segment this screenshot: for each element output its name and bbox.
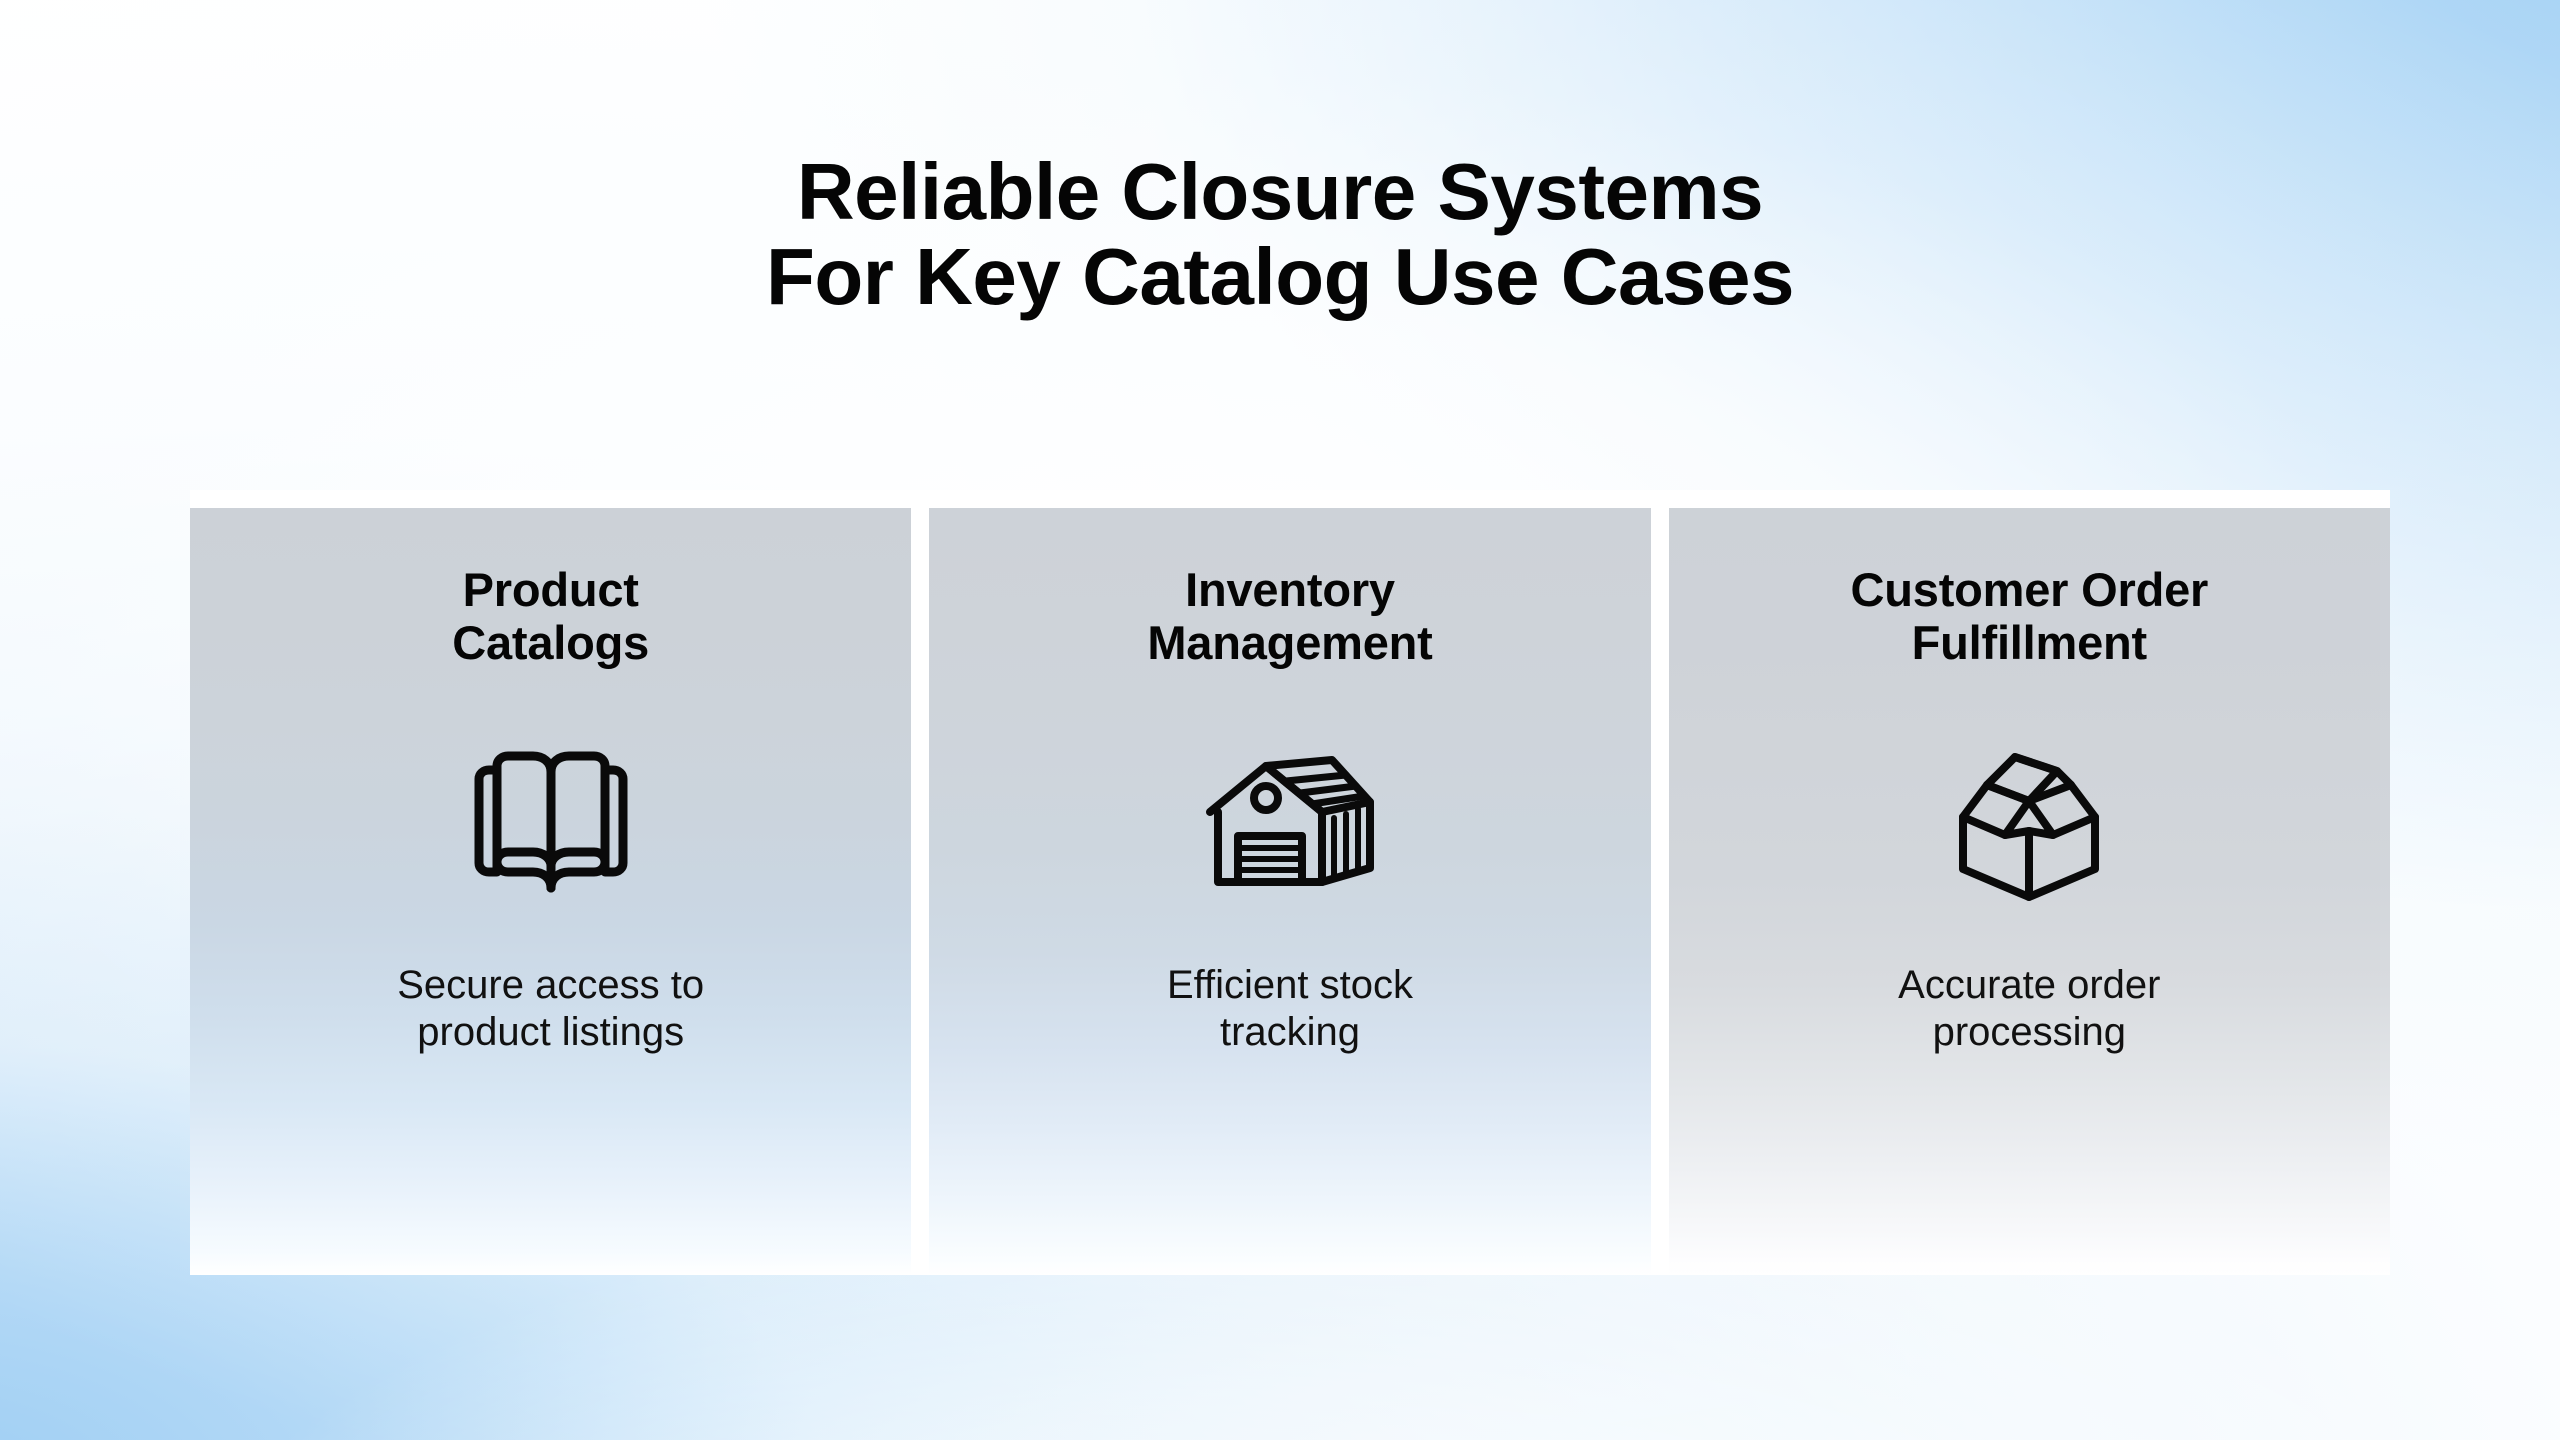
open-book-icon bbox=[471, 729, 631, 914]
card-title: Product Catalogs bbox=[452, 564, 649, 669]
page-title: Reliable Closure Systems For Key Catalog… bbox=[0, 150, 2560, 320]
card-description: Secure access to product listings bbox=[397, 962, 704, 1056]
card-description-line-1: Secure access to bbox=[397, 962, 704, 1009]
card-title-line-2: Catalogs bbox=[452, 617, 649, 670]
warehouse-icon bbox=[1204, 729, 1376, 914]
slide-stage: Reliable Closure Systems For Key Catalog… bbox=[0, 0, 2560, 1440]
open-box-icon bbox=[1953, 729, 2105, 914]
card-description-line-2: tracking bbox=[1167, 1009, 1413, 1056]
use-case-card-product-catalogs[interactable]: Product Catalogs bbox=[190, 508, 911, 1275]
card-title: Customer Order Fulfillment bbox=[1851, 564, 2209, 669]
card-description: Efficient stock tracking bbox=[1167, 962, 1413, 1056]
card-title-line-1: Customer Order bbox=[1851, 564, 2209, 617]
use-case-card-customer-order-fulfillment[interactable]: Customer Order Fulfillment bbox=[1669, 508, 2390, 1275]
card-title-line-2: Management bbox=[1147, 617, 1432, 670]
use-case-card-inventory-management[interactable]: Inventory Management bbox=[929, 508, 1650, 1275]
card-description-line-2: processing bbox=[1898, 1009, 2160, 1056]
card-description-line-2: product listings bbox=[397, 1009, 704, 1056]
card-description-line-1: Accurate order bbox=[1898, 962, 2160, 1009]
page-title-line-2: For Key Catalog Use Cases bbox=[0, 235, 2560, 320]
card-title-line-2: Fulfillment bbox=[1851, 617, 2209, 670]
card-description-line-1: Efficient stock bbox=[1167, 962, 1413, 1009]
card-description: Accurate order processing bbox=[1898, 962, 2160, 1056]
card-title-line-1: Product bbox=[452, 564, 649, 617]
use-case-cards-row: Product Catalogs bbox=[190, 508, 2390, 1275]
page-title-line-1: Reliable Closure Systems bbox=[0, 150, 2560, 235]
card-title-line-1: Inventory bbox=[1147, 564, 1432, 617]
card-title: Inventory Management bbox=[1147, 564, 1432, 669]
